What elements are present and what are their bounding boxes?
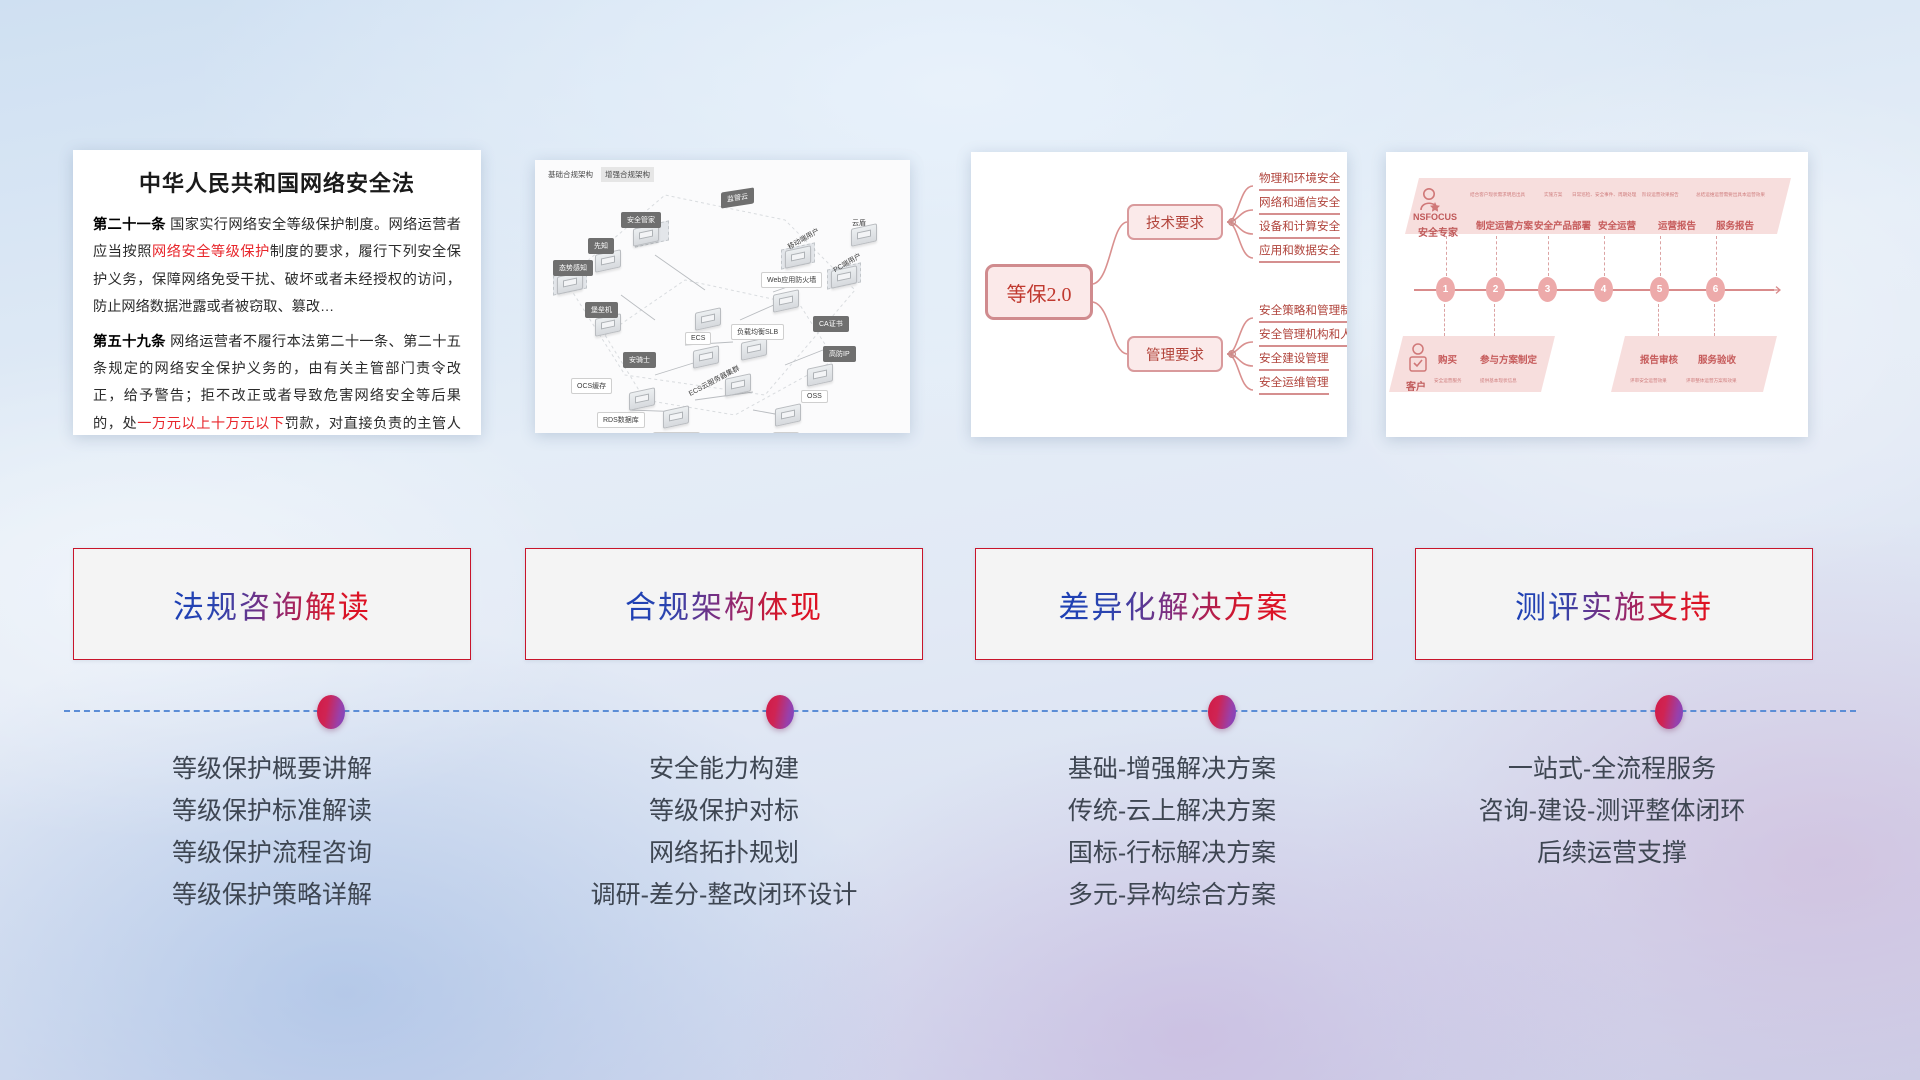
arch-node-waf: Web应用防火墙 bbox=[761, 272, 822, 288]
flow-bottom-title: 服务验收 bbox=[1698, 352, 1736, 366]
arch-node-oss: OSS bbox=[801, 390, 828, 403]
mindmap-root-node: 等保2.0 bbox=[985, 264, 1093, 320]
arch-node-anti-ddos-ip: 高防IP bbox=[823, 346, 856, 362]
flow-step-circle: 2 bbox=[1486, 277, 1505, 302]
mindmap-branch-technical: 技术要求 bbox=[1127, 204, 1223, 240]
flow-connector bbox=[1446, 236, 1447, 276]
flow-bottom-sub: 评审安全运营效果 bbox=[1630, 378, 1667, 384]
mindmap-leaf: 设备和计算安全 bbox=[1259, 218, 1340, 239]
flow-step-circle: 5 bbox=[1650, 277, 1669, 302]
mindmap: 等保2.0 技术要求 管理要求 物理和环境安全 网络和通信安全 设备和计算安全 … bbox=[971, 152, 1347, 437]
arch-node-ca-cert: CA证书 bbox=[813, 316, 849, 332]
list-item: 等级保护概要讲解 bbox=[72, 748, 472, 790]
list-item: 多元-异构综合方案 bbox=[972, 874, 1372, 916]
law-seg-highlight: 网络安全等级保护 bbox=[152, 244, 270, 260]
flow-connector bbox=[1444, 304, 1445, 336]
detail-list-compliance-architecture: 安全能力构建 等级保护对标 网络拓扑规划 调研-差分-整改闭环设计 bbox=[524, 748, 924, 916]
flow-top-title: 服务报告 bbox=[1716, 218, 1754, 232]
headline-row: 法规咨询解读 合规架构体现 差异化解决方案 测评实施支持 bbox=[0, 548, 1920, 664]
arch-node-rds-database: RDS数据库 bbox=[597, 412, 645, 428]
flow-bottom-sub: 安全运营服务 bbox=[1434, 378, 1462, 384]
flow-connector bbox=[1714, 304, 1715, 336]
card-mindmap-dengbao[interactable]: 等保2.0 技术要求 管理要求 物理和环境安全 网络和通信安全 设备和计算安全 … bbox=[971, 152, 1347, 437]
list-item: 等级保护流程咨询 bbox=[72, 832, 472, 874]
list-item: 后续运营支撑 bbox=[1412, 832, 1812, 874]
flow-connector bbox=[1716, 236, 1717, 276]
arch-node-security-butler: 安全管家 bbox=[621, 212, 661, 228]
customer-icon bbox=[1406, 342, 1430, 378]
list-item: 国标-行标解决方案 bbox=[972, 832, 1372, 874]
mindmap-leaf: 物理和环境安全 bbox=[1259, 170, 1340, 191]
flow-connector bbox=[1548, 236, 1549, 276]
arch-node-situational-awareness: 态势感知 bbox=[553, 260, 593, 276]
arch-node-slb: 负载均衡SLB bbox=[731, 324, 784, 340]
list-item: 咨询-建设-测评整体闭环 bbox=[1412, 790, 1812, 832]
headline-box-assessment-support[interactable]: 测评实施支持 bbox=[1415, 548, 1813, 660]
timeline bbox=[64, 690, 1856, 734]
arch-node-cloud-shield: 云盾 bbox=[847, 216, 871, 230]
flow-top-title: 安全产品部署 bbox=[1534, 218, 1591, 232]
flow-step-circle: 1 bbox=[1436, 277, 1455, 302]
list-item: 传统-云上解决方案 bbox=[972, 790, 1372, 832]
mindmap-leaf: 安全策略和管理制度 bbox=[1259, 302, 1347, 323]
flow-actor-top-line1: NSFOCUS bbox=[1413, 212, 1457, 222]
headline-box-compliance-architecture[interactable]: 合规架构体现 bbox=[525, 548, 923, 660]
law-paragraph: 第二十一条 国家实行网络安全等级保护制度。网络运营者应当按照网络安全等级保护制度… bbox=[93, 212, 461, 322]
flow-connector bbox=[1494, 304, 1495, 336]
flow-connector bbox=[1604, 236, 1605, 276]
flow-step-circle: 6 bbox=[1706, 277, 1725, 302]
flow-top-sub: 日常巡检、安全事件、周期处理 bbox=[1572, 192, 1636, 198]
list-item: 等级保护对标 bbox=[524, 790, 924, 832]
timeline-dot[interactable] bbox=[1655, 695, 1683, 729]
list-item: 网络拓扑规划 bbox=[524, 832, 924, 874]
mindmap-leaf: 网络和通信安全 bbox=[1259, 194, 1340, 215]
law-article-number: 第二十一条 bbox=[93, 217, 166, 233]
flow-top-title: 制定运营方案 bbox=[1476, 218, 1533, 232]
flow-top-sub: 总结运维运营需要出具本运营效果 bbox=[1696, 192, 1765, 198]
arch-node-ecs: ECS bbox=[685, 332, 711, 345]
flow-top-title: 运营报告 bbox=[1658, 218, 1696, 232]
mindmap-branch-management: 管理要求 bbox=[1127, 336, 1223, 372]
card-cybersecurity-law[interactable]: 中华人民共和国网络安全法 第二十一条 国家实行网络安全等级保护制度。网络运营者应… bbox=[73, 150, 481, 435]
arch-node-ocs-cache: OCS缓存 bbox=[571, 378, 612, 394]
law-title: 中华人民共和国网络安全法 bbox=[73, 166, 481, 198]
headline-label: 合规架构体现 bbox=[625, 582, 823, 627]
timeline-dot[interactable] bbox=[317, 695, 345, 729]
flow-connector bbox=[1658, 304, 1659, 336]
arch-node-anqishi: 安骑士 bbox=[623, 352, 656, 368]
list-item: 等级保护标准解读 bbox=[72, 790, 472, 832]
flow-bottom-title: 购买 bbox=[1438, 352, 1457, 366]
arch-node-vpc: VPC bbox=[773, 432, 799, 433]
headline-box-regulation-consulting[interactable]: 法规咨询解读 bbox=[73, 548, 471, 660]
timeline-dot[interactable] bbox=[766, 695, 794, 729]
list-item: 调研-差分-整改闭环设计 bbox=[524, 874, 924, 916]
flow-bottom-sub: 提供基本现状信息 bbox=[1480, 378, 1517, 384]
arch-node-db-audit: 数据库审计 bbox=[653, 432, 700, 433]
flow-actor-top-line2: 安全专家 bbox=[1418, 224, 1458, 239]
flow-actor-bottom: 客户 bbox=[1406, 378, 1426, 393]
headline-label: 法规咨询解读 bbox=[173, 582, 371, 627]
headline-label: 差异化解决方案 bbox=[1059, 582, 1290, 627]
detail-lists: 等级保护概要讲解 等级保护标准解读 等级保护流程咨询 等级保护策略详解 安全能力… bbox=[0, 748, 1920, 978]
mindmap-leaf: 安全管理机构和人员 bbox=[1259, 326, 1347, 347]
list-item: 一站式-全流程服务 bbox=[1412, 748, 1812, 790]
illustration-cards: 中华人民共和国网络安全法 第二十一条 国家实行网络安全等级保护制度。网络运营者应… bbox=[0, 150, 1920, 440]
law-seg-highlight: 一万元以上十万元以下 bbox=[137, 416, 284, 432]
flow-connector bbox=[1660, 236, 1661, 276]
law-body: 第二十一条 国家实行网络安全等级保护制度。网络运营者应当按照网络安全等级保护制度… bbox=[73, 198, 481, 435]
list-item: 安全能力构建 bbox=[524, 748, 924, 790]
flow-bottom-sub: 评审整体运营方案和效果 bbox=[1686, 378, 1737, 384]
flow-top-sub: 阶段运营效果报告 bbox=[1642, 192, 1679, 198]
timeline-dot[interactable] bbox=[1208, 695, 1236, 729]
flow-bottom-title: 报告审核 bbox=[1640, 352, 1678, 366]
detail-list-differentiated-solution: 基础-增强解决方案 传统-云上解决方案 国标-行标解决方案 多元-异构综合方案 bbox=[972, 748, 1372, 916]
list-item: 等级保护策略详解 bbox=[72, 874, 472, 916]
detail-list-assessment-support: 一站式-全流程服务 咨询-建设-测评整体闭环 后续运营支撑 bbox=[1412, 748, 1812, 874]
flow-top-title: 安全运营 bbox=[1598, 218, 1636, 232]
architecture-diagram: 基础合规架构 增强合规架构 bbox=[535, 160, 910, 433]
list-item: 基础-增强解决方案 bbox=[972, 748, 1372, 790]
flow-connector bbox=[1496, 236, 1497, 276]
detail-list-regulation-consulting: 等级保护概要讲解 等级保护标准解读 等级保护流程咨询 等级保护策略详解 bbox=[72, 748, 472, 916]
mindmap-leaf: 安全建设管理 bbox=[1259, 350, 1329, 371]
mindmap-leaf: 安全运维管理 bbox=[1259, 374, 1329, 395]
law-paragraph: 第五十九条 网络运营者不履行本法第二十一条、第二十五条规定的网络安全保护义务的，… bbox=[93, 329, 461, 435]
law-article-number: 第五十九条 bbox=[93, 334, 166, 350]
flow-bottom-title: 参与方案制定 bbox=[1480, 352, 1537, 366]
flow-arrow-icon bbox=[1770, 283, 1784, 297]
service-flow-diagram: NSFOCUS 安全专家 结合客户现状需求明后出具 制定运营方案 实施方案 安全… bbox=[1386, 152, 1808, 437]
mindmap-leaf: 应用和数据安全 bbox=[1259, 242, 1340, 263]
headline-label: 测评实施支持 bbox=[1515, 582, 1713, 627]
flow-step-circle: 4 bbox=[1594, 277, 1613, 302]
arch-node-xianzhi: 先知 bbox=[588, 238, 614, 254]
flow-step-circle: 3 bbox=[1538, 277, 1557, 302]
card-compliance-architecture[interactable]: 基础合规架构 增强合规架构 bbox=[535, 160, 910, 433]
flow-top-sub: 实施方案 bbox=[1544, 192, 1562, 198]
arch-node-bastion-host: 堡垒机 bbox=[585, 302, 618, 318]
headline-box-differentiated-solution[interactable]: 差异化解决方案 bbox=[975, 548, 1373, 660]
flow-top-sub: 结合客户现状需求明后出具 bbox=[1470, 192, 1525, 198]
card-service-flow[interactable]: NSFOCUS 安全专家 结合客户现状需求明后出具 制定运营方案 实施方案 安全… bbox=[1386, 152, 1808, 437]
